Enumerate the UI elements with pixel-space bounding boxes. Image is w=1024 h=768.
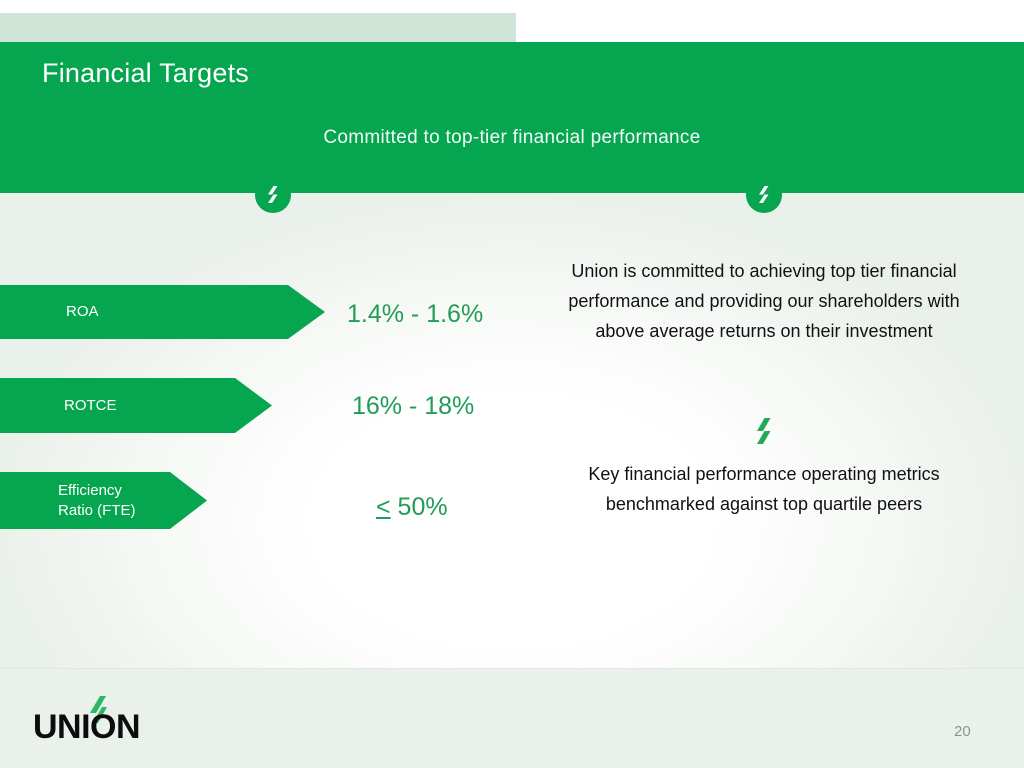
page-subtitle: Committed to top-tier financial performa… [0, 127, 1024, 149]
metric-label-efficiency-ratio: Efficiency Ratio (FTE) [58, 481, 136, 521]
metric-value-efficiency-ratio: < 50% [376, 493, 448, 522]
union-slash-badge-left [255, 177, 291, 213]
metric-value-efficiency-ratio-number: 50% [391, 493, 448, 521]
callout-text-benchmark: Key financial performance operating metr… [566, 460, 962, 520]
metric-value-rotce: 16% - 18% [352, 392, 474, 421]
metric-value-roa: 1.4% - 1.6% [347, 300, 483, 329]
union-slash-badge-right [746, 177, 782, 213]
union-slash-divider-icon [750, 417, 778, 449]
page-number: 20 [954, 723, 971, 740]
less-than-or-equal-symbol: < [376, 493, 391, 521]
callout-text-commitment: Union is committed to achieving top tier… [548, 257, 980, 347]
union-logo: UNION [33, 700, 193, 748]
metric-arrow-efficiency-ratio: Efficiency Ratio (FTE) [0, 472, 207, 529]
metric-label-roa: ROA [66, 302, 99, 322]
slide-financial-targets: Financial Targets Committed to top-tier … [0, 0, 1024, 768]
header-accent-bar [0, 13, 516, 42]
metric-arrow-rotce: ROTCE [0, 378, 272, 433]
union-logo-text: UNION [33, 708, 140, 747]
union-slash-icon [746, 177, 782, 213]
page-title: Financial Targets [42, 58, 249, 89]
metric-label-rotce: ROTCE [64, 396, 117, 416]
union-slash-icon [255, 177, 291, 213]
metric-arrow-roa: ROA [0, 285, 325, 339]
